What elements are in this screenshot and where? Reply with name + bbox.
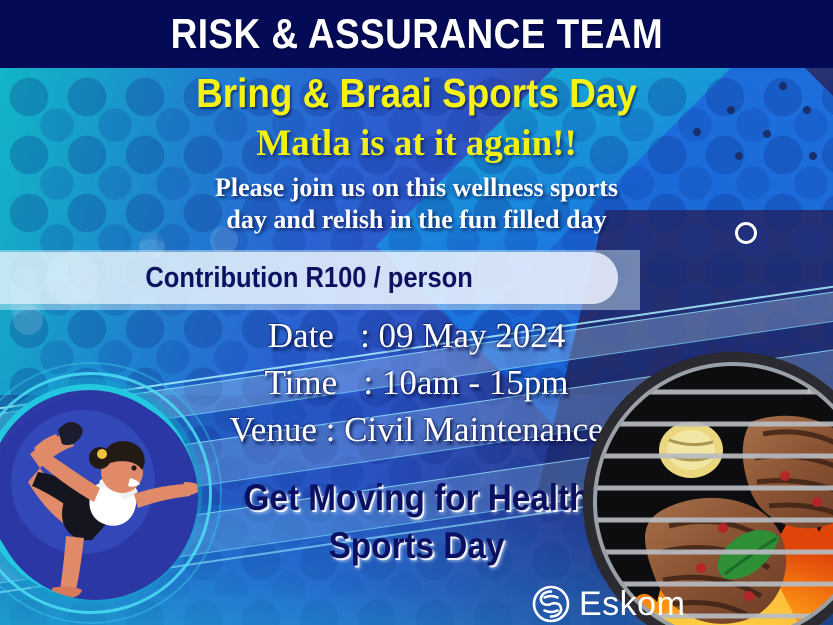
- event-tagline: Matla is at it again!!: [0, 122, 833, 165]
- event-subtitle: Bring & Braai Sports Day: [42, 70, 792, 117]
- poster-canvas: RISK & ASSURANCE TEAM Bring & Braai Spor…: [0, 0, 833, 625]
- invitation-line-2: day and relish in the fun filled day: [0, 204, 833, 236]
- contribution-banner: Contribution R100 / person: [0, 252, 618, 304]
- contribution-text: Contribution R100 / person: [145, 262, 473, 295]
- eskom-swirl-icon: [531, 584, 571, 624]
- invitation-line-1: Please join us on this wellness sports: [0, 172, 833, 204]
- page-title: RISK & ASSURANCE TEAM: [170, 10, 662, 58]
- eskom-logo: Eskom: [531, 584, 685, 624]
- invitation-text: Please join us on this wellness sports d…: [0, 172, 833, 236]
- header-bar: RISK & ASSURANCE TEAM: [0, 0, 833, 68]
- yoga-dancer-pose-icon: [0, 390, 202, 604]
- yoga-badge: [0, 384, 196, 598]
- eskom-wordmark: Eskom: [579, 585, 685, 624]
